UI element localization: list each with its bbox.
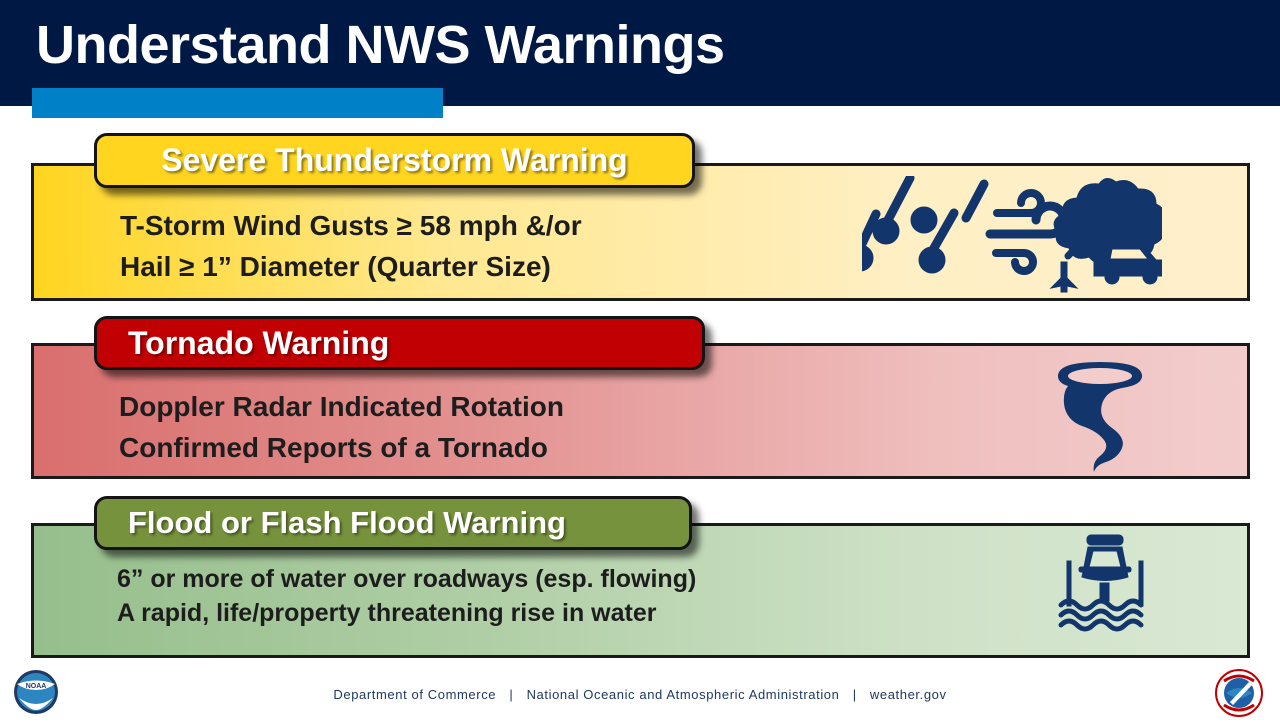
tree-falling-on-car-icon	[1051, 178, 1162, 292]
severe-thunderstorm-body-line-1: T-Storm Wind Gusts ≥ 58 mph &/or	[120, 205, 582, 246]
footer-agency: Department of Commerce	[333, 687, 496, 702]
car-in-floodwater-icon	[1055, 533, 1155, 633]
hail-icon	[862, 178, 984, 273]
tornado-body: Doppler Radar Indicated Rotation Confirm…	[119, 386, 564, 468]
severe-thunderstorm-label-text: Severe Thunderstorm Warning	[161, 142, 627, 179]
flood-body-line-1: 6” or more of water over roadways (esp. …	[117, 562, 696, 596]
footer-separator-2: |	[844, 687, 866, 702]
footer-separator-1: |	[500, 687, 522, 702]
severe-thunderstorm-label-pill[interactable]: Severe Thunderstorm Warning	[94, 133, 695, 188]
severe-thunderstorm-body: T-Storm Wind Gusts ≥ 58 mph &/or Hail ≥ …	[120, 205, 582, 287]
tornado-label-text: Tornado Warning	[128, 325, 389, 362]
tornado-body-line-2: Confirmed Reports of a Tornado	[119, 427, 564, 468]
severe-thunderstorm-body-line-2: Hail ≥ 1” Diameter (Quarter Size)	[120, 246, 582, 287]
tornado-label-pill[interactable]: Tornado Warning	[94, 316, 705, 370]
footer-website-link[interactable]: weather.gov	[870, 687, 947, 702]
tornado-body-line-1: Doppler Radar Indicated Rotation	[119, 386, 564, 427]
footer-organization: National Oceanic and Atmospheric Adminis…	[527, 687, 840, 702]
flood-body-line-2: A rapid, life/property threatening rise …	[117, 596, 696, 630]
flood-label-pill[interactable]: Flood or Flash Flood Warning	[94, 496, 692, 550]
flood-label-text: Flood or Flash Flood Warning	[128, 505, 566, 541]
tornado-funnel-icon	[1040, 358, 1160, 473]
severe-thunderstorm-icon-group	[862, 176, 1162, 296]
page-title: Understand NWS Warnings	[36, 17, 725, 74]
header-accent-bar	[32, 88, 443, 118]
flood-body: 6” or more of water over roadways (esp. …	[117, 562, 696, 630]
nws-logo	[1210, 668, 1268, 718]
footer: Department of Commerce | National Oceani…	[0, 687, 1280, 702]
wind-icon	[990, 193, 1064, 271]
